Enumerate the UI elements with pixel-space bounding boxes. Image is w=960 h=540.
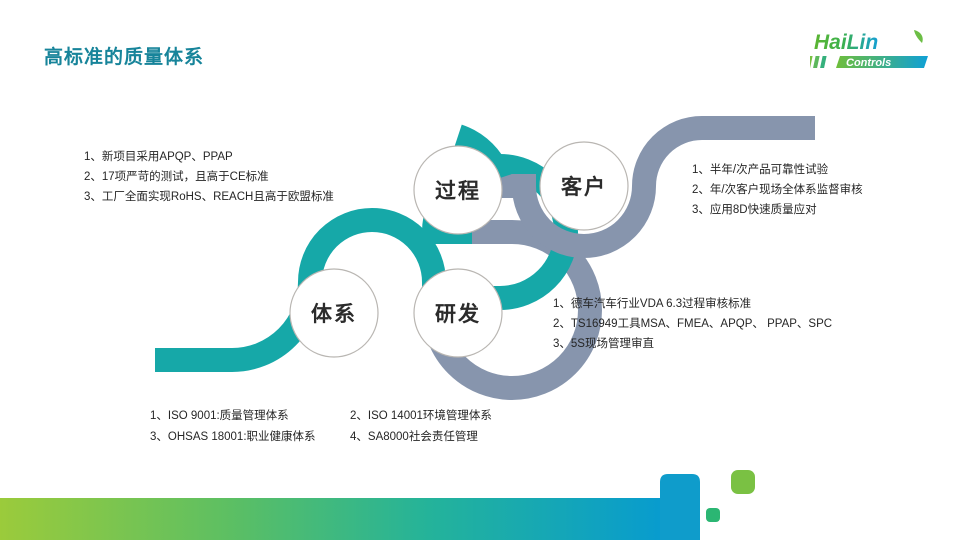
- text-block-system: 1、ISO 9001:质量管理体系 2、ISO 14001环境管理体系 3、OH…: [150, 406, 492, 448]
- system-row-2: 3、OHSAS 18001:职业健康体系 4、SA8000社会责任管理: [150, 427, 492, 448]
- system-row-1-right: 2、ISO 14001环境管理体系: [350, 406, 492, 427]
- system-row-2-right: 4、SA8000社会责任管理: [350, 427, 478, 448]
- system-row-2-left: 3、OHSAS 18001:职业健康体系: [150, 427, 350, 448]
- system-row-1-left: 1、ISO 9001:质量管理体系: [150, 406, 350, 427]
- rounded-square-green-shape: [731, 470, 755, 494]
- customer-line-1: 1、半年/次产品可靠性试验: [692, 160, 863, 180]
- small-square-teal-shape: [706, 508, 720, 522]
- text-block-rnd: 1、德车汽车行业VDA 6.3过程审核标准 2、TS16949工具MSA、FME…: [553, 294, 832, 354]
- slide: 高标准的质量体系 HaiLin: [0, 0, 960, 540]
- process-line-2: 2、17项严苛的测试，且高于CE标准: [84, 167, 334, 187]
- footer-bar: [0, 498, 660, 540]
- node-circle-process: [414, 146, 502, 234]
- rnd-line-2: 2、TS16949工具MSA、FMEA、APQP、 PPAP、SPC: [553, 314, 832, 334]
- text-block-customer: 1、半年/次产品可靠性试验 2、年/次客户现场全体系监督审核 3、应用8D快速质…: [692, 160, 863, 220]
- rnd-line-3: 3、5S现场管理审直: [553, 334, 832, 354]
- text-block-process: 1、新项目采用APQP、PPAP 2、17项严苛的测试，且高于CE标准 3、工厂…: [84, 147, 334, 207]
- step-notch-blue-shape: [660, 474, 700, 540]
- footer-gradient-bar: [0, 460, 960, 540]
- node-circle-system: [290, 269, 378, 357]
- rnd-line-1: 1、德车汽车行业VDA 6.3过程审核标准: [553, 294, 832, 314]
- system-row-1: 1、ISO 9001:质量管理体系 2、ISO 14001环境管理体系: [150, 406, 492, 427]
- customer-line-3: 3、应用8D快速质量应对: [692, 200, 863, 220]
- node-circle-customer: [540, 142, 628, 230]
- process-flow-diagram: 过程 客户 体系 研发: [0, 0, 960, 470]
- process-line-1: 1、新项目采用APQP、PPAP: [84, 147, 334, 167]
- customer-line-2: 2、年/次客户现场全体系监督审核: [692, 180, 863, 200]
- process-line-3: 3、工厂全面实现RoHS、REACH且高于欧盟标准: [84, 187, 334, 207]
- node-circle-rnd: [414, 269, 502, 357]
